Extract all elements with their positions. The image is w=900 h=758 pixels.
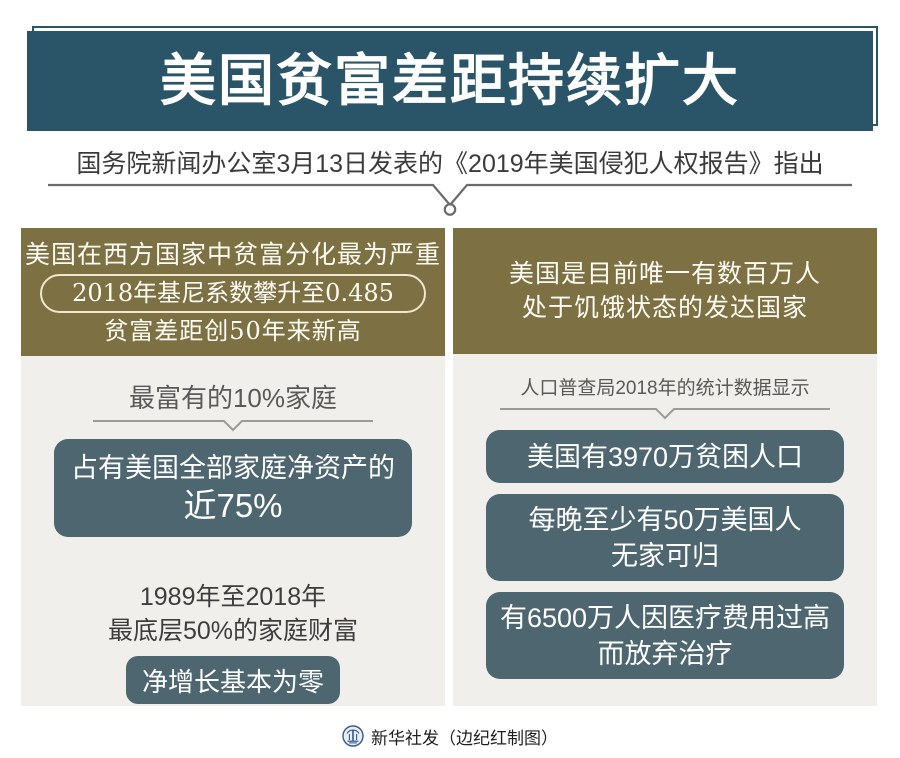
left-header-line1: 美国在西方国家中贫富分化最为严重 [25,238,441,272]
left-note: 1989年至2018年 最底层50%的家庭财富 [21,580,445,648]
left-olive-header: 美国在西方国家中贫富分化最为严重 2018年基尼系数攀升至0.485 贫富差距创… [21,228,445,356]
right-card-2-line-1: 而放弃治疗 [598,636,733,672]
title-bar: 美国贫富差距持续扩大 [27,31,873,131]
right-column: 美国是目前唯一有数百万人 处于饥饿状态的发达国家 人口普查局2018年的统计数据… [453,228,877,706]
left-header-line3: 贫富差距创50年来新高 [104,314,362,348]
right-card-1-line-0: 每晚至少有50万美国人 [528,502,801,538]
right-section-divider-icon [500,405,830,421]
right-card-homeless: 每晚至少有50万美国人 无家可归 [486,494,844,581]
right-card-0-line-0: 美国有3970万贫困人口 [527,439,803,475]
left-zero-growth-pill: 净增长基本为零 [126,656,340,704]
left-column: 美国在西方国家中贫富分化最为严重 2018年基尼系数攀升至0.485 贫富差距创… [21,228,445,706]
title-block: 美国贫富差距持续扩大 [0,0,900,140]
footer: 新华社发（边纪红制图） [0,714,900,758]
xinhua-logo-icon [342,725,364,747]
footer-credit: 新华社发（边纪红制图） [371,724,558,749]
left-card-line2: 近75% [183,486,282,526]
left-note-line1: 1989年至2018年 [21,580,445,614]
gini-coefficient-pill: 2018年基尼系数攀升至0.485 [40,274,426,313]
left-note-line2: 最底层50%的家庭财富 [21,614,445,648]
right-card-poverty: 美国有3970万贫困人口 [486,430,844,483]
right-olive-header: 美国是目前唯一有数百万人 处于饥饿状态的发达国家 [453,228,877,354]
page-title: 美国贫富差距持续扩大 [160,53,740,109]
subtitle-text: 国务院新闻办公室3月13日发表的《2019年美国侵犯人权报告》指出 [0,144,900,180]
left-wealth-share-card: 占有美国全部家庭净资产的 近75% [54,439,412,537]
right-header-line1: 美国是目前唯一有数百万人 [509,257,821,291]
right-card-2-line-0: 有6500万人因医疗费用过高 [500,600,830,636]
subtitle-block: 国务院新闻办公室3月13日发表的《2019年美国侵犯人权报告》指出 [0,140,900,218]
content-columns: 美国在西方国家中贫富分化最为严重 2018年基尼系数攀升至0.485 贫富差距创… [0,228,900,710]
left-section-divider-icon [93,417,373,433]
left-card-line1: 占有美国全部家庭净资产的 [71,450,395,486]
left-section-label: 最富有的10%家庭 [21,382,445,414]
right-section-label: 人口普查局2018年的统计数据显示 [453,376,877,402]
subtitle-connector-icon [48,182,852,216]
right-card-1-line-1: 无家可归 [611,538,719,574]
right-header-line2: 处于饥饿状态的发达国家 [522,291,808,325]
right-card-healthcare: 有6500万人因医疗费用过高 而放弃治疗 [486,592,844,679]
